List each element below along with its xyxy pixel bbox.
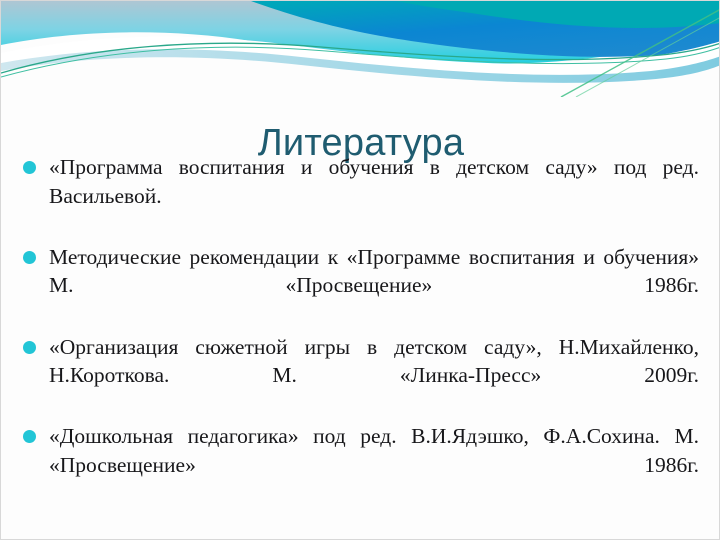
bullet-dot-icon [23,251,36,264]
list-item-text: «Организация сюжетной игры в детском сад… [49,333,699,419]
list-item-text: Методические рекомендации к «Программе в… [49,243,699,329]
wave-graphic [1,1,720,97]
list-item-text: «Дошкольная педагогика» под ред. В.И.Ядэ… [49,422,699,508]
decorative-wave-banner [1,1,720,97]
list-item: «Программа воспитания и обучения в детск… [23,153,699,239]
bullet-dot-icon [23,161,36,174]
list-item-text: «Программа воспитания и обучения в детск… [49,153,699,239]
bullet-dot-icon [23,341,36,354]
bullet-list: «Программа воспитания и обучения в детск… [23,153,699,512]
bullet-dot-icon [23,430,36,443]
list-item: Методические рекомендации к «Программе в… [23,243,699,329]
list-item: «Организация сюжетной игры в детском сад… [23,333,699,419]
list-item: «Дошкольная педагогика» под ред. В.И.Ядэ… [23,422,699,508]
presentation-slide: Литература «Программа воспитания и обуче… [0,0,720,540]
